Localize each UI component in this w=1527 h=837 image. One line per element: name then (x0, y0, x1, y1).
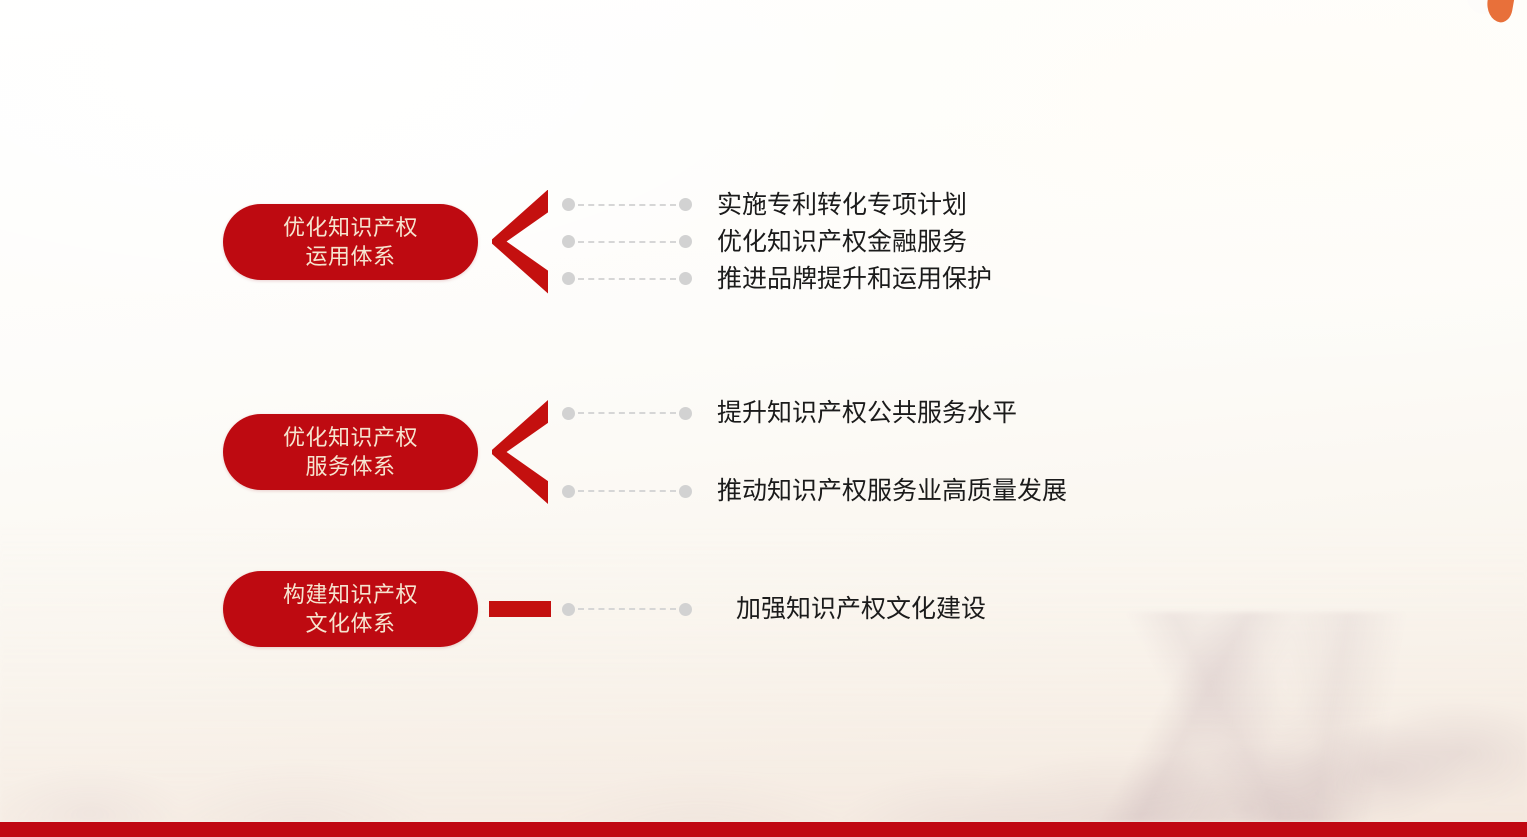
group-row: 优化知识产权 运用体系 实施专利转化专项计划 优化知识产权金融服务 (0, 186, 992, 297)
group-row: 优化知识产权 服务体系 提升知识产权公共服务水平 推动知识产权服务业高质量发 (0, 374, 1067, 530)
chevron-left-icon (478, 190, 562, 294)
list-item-label: 加强知识产权文化建设 (736, 594, 986, 624)
list-item-label: 实施专利转化专项计划 (717, 190, 967, 220)
list-item-label: 优化知识产权金融服务 (717, 227, 967, 257)
list-item[interactable]: 提升知识产权公共服务水平 (562, 374, 1067, 452)
list-item[interactable]: 推动知识产权服务业高质量发展 (562, 452, 1067, 530)
chevron-left-icon (478, 400, 562, 504)
slide-canvas: 优化知识产权 运用体系 实施专利转化专项计划 优化知识产权金融服务 (0, 0, 1527, 837)
dashed-connector-icon (562, 198, 692, 211)
list-item[interactable]: 实施专利转化专项计划 (562, 186, 992, 223)
list-item[interactable]: 优化知识产权金融服务 (562, 223, 992, 260)
dashed-connector-icon (562, 235, 692, 248)
list-item-label: 提升知识产权公共服务水平 (717, 398, 1017, 428)
group-pill-button[interactable]: 优化知识产权 服务体系 (223, 414, 478, 490)
item-list: 提升知识产权公共服务水平 推动知识产权服务业高质量发展 (562, 374, 1067, 530)
group-pill-line: 优化知识产权 (283, 213, 418, 242)
dashed-connector-icon (562, 407, 692, 420)
group-pill-line: 运用体系 (305, 242, 395, 271)
dashed-connector-icon (562, 485, 692, 498)
item-list: 实施专利转化专项计划 优化知识产权金融服务 推进品牌提升和运用保护 (562, 186, 992, 297)
list-item[interactable]: 加强知识产权文化建设 (562, 591, 986, 628)
group-pill-line: 文化体系 (305, 609, 395, 638)
group-pill-line: 优化知识产权 (283, 423, 418, 452)
dashed-connector-icon (562, 272, 692, 285)
item-list: 加强知识产权文化建设 (562, 591, 986, 628)
list-item-label: 推动知识产权服务业高质量发展 (717, 476, 1067, 506)
list-item-label: 推进品牌提升和运用保护 (717, 264, 992, 294)
list-item[interactable]: 推进品牌提升和运用保护 (562, 260, 992, 297)
group-pill-button[interactable]: 优化知识产权 运用体系 (223, 204, 478, 280)
group-pill-button[interactable]: 构建知识产权 文化体系 (223, 571, 478, 647)
group-row: 构建知识产权 文化体系 加强知识产权文化建设 (0, 571, 986, 647)
group-list: 优化知识产权 运用体系 实施专利转化专项计划 优化知识产权金融服务 (0, 0, 1527, 837)
bar-marker-icon (478, 601, 562, 617)
dashed-connector-icon (562, 603, 692, 616)
group-pill-line: 构建知识产权 (283, 580, 418, 609)
group-pill-line: 服务体系 (305, 452, 395, 481)
bottom-accent-bar (0, 822, 1527, 837)
